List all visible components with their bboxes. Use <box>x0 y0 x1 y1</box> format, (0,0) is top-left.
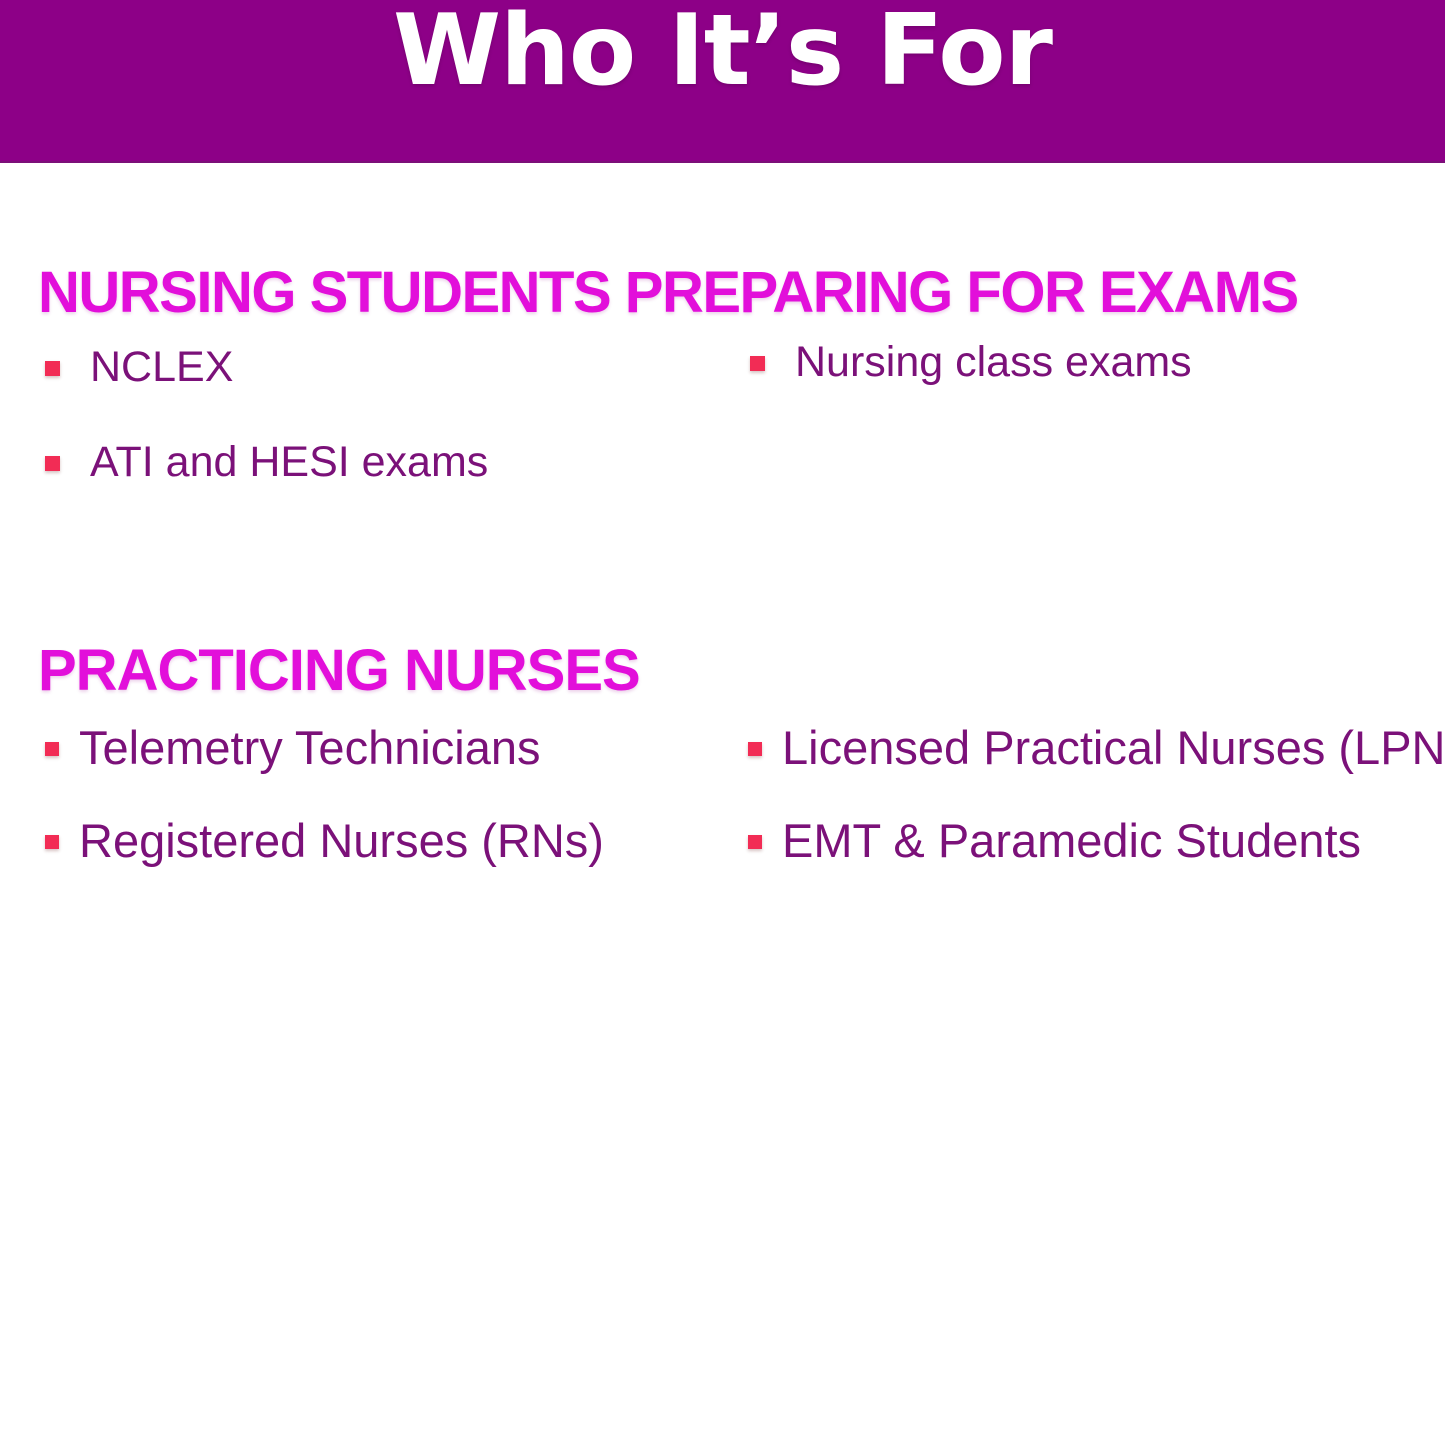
section-practicing-nurses: PRACTICING NURSES Telemetry Technicians … <box>0 641 1445 724</box>
list-item: EMT & Paramedic Students <box>748 817 1361 864</box>
list-item-label: Registered Nurses (RNs) <box>79 817 604 864</box>
bullet-square-icon <box>45 835 59 849</box>
list-item-label: Licensed Practical Nurses (LPNs) <box>782 724 1445 771</box>
bullet-square-icon <box>45 456 60 471</box>
list-item-label: Nursing class exams <box>795 341 1192 384</box>
bullet-square-icon <box>750 356 765 371</box>
section-nursing-students: NURSING STUDENTS PREPARING FOR EXAMS NCL… <box>0 263 1445 346</box>
list-item: Nursing class exams <box>750 341 1192 384</box>
list-item: Registered Nurses (RNs) <box>45 817 604 864</box>
bullet-square-icon <box>748 835 762 849</box>
list-item: NCLEX <box>45 346 233 389</box>
bullet-square-icon <box>748 742 762 756</box>
page-title: Who It’s For <box>393 2 1052 100</box>
slide-header-band: Who It’s For <box>0 0 1445 163</box>
list-item: ATI and HESI exams <box>45 441 488 484</box>
section-heading-practicing-nurses: PRACTICING NURSES <box>38 641 1445 702</box>
list-item: Licensed Practical Nurses (LPNs) <box>748 724 1445 771</box>
bullet-square-icon <box>45 361 60 376</box>
list-item-label: ATI and HESI exams <box>90 441 488 484</box>
section-heading-nursing-students: NURSING STUDENTS PREPARING FOR EXAMS <box>38 263 1445 324</box>
list-item-label: EMT & Paramedic Students <box>782 817 1361 864</box>
list-item-label: NCLEX <box>90 346 233 389</box>
bullet-square-icon <box>45 742 59 756</box>
list-item: Telemetry Technicians <box>45 724 541 771</box>
list-item-label: Telemetry Technicians <box>79 724 541 771</box>
slide-root: Who It’s For NURSING STUDENTS PREPARING … <box>0 0 1445 1445</box>
